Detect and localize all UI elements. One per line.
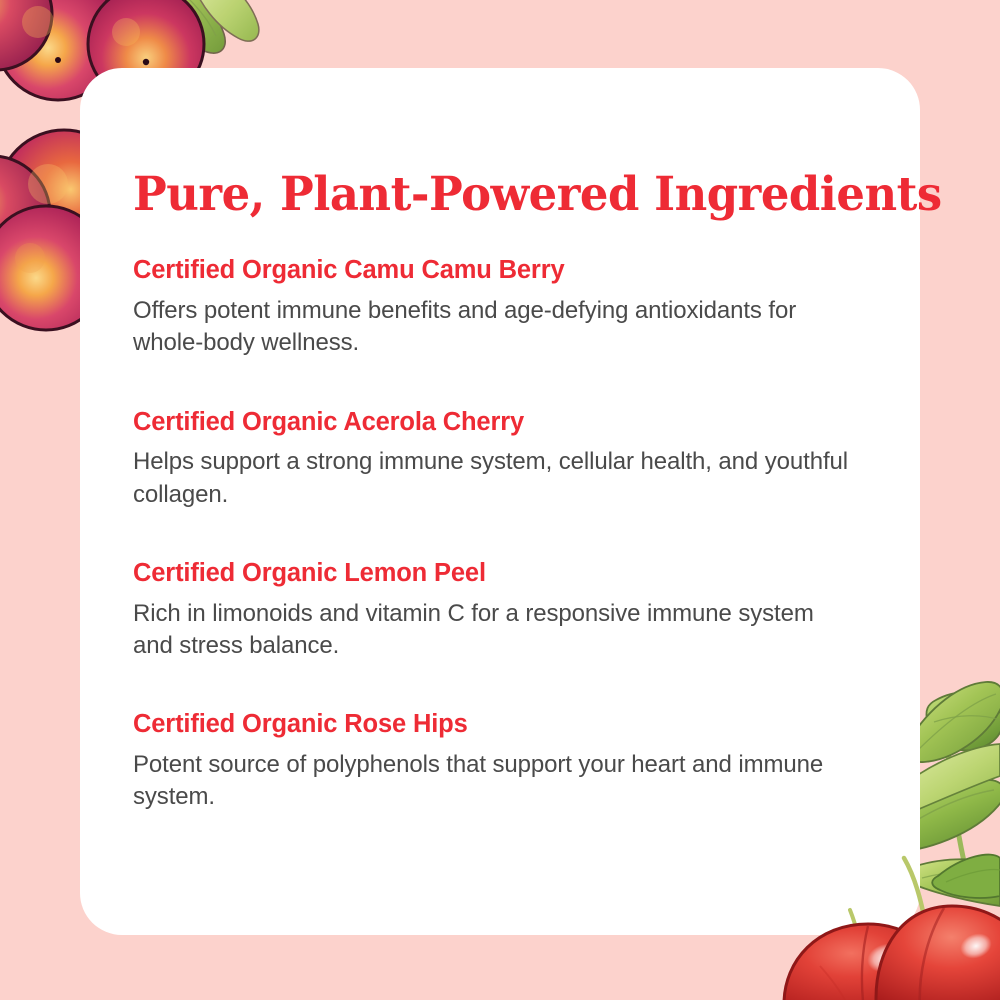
ingredient-name: Certified Organic Rose Hips — [133, 709, 873, 740]
list-item: Certified Organic Acerola Cherry Helps s… — [133, 407, 873, 511]
ingredient-description: Offers potent immune benefits and age-de… — [133, 295, 853, 360]
list-item: Certified Organic Lemon Peel Rich in lim… — [133, 558, 873, 662]
ingredient-name: Certified Organic Acerola Cherry — [133, 407, 873, 438]
list-item: Certified Organic Rose Hips Potent sourc… — [133, 709, 873, 813]
ingredient-description: Potent source of polyphenols that suppor… — [133, 749, 853, 814]
ingredient-list: Certified Organic Camu Camu Berry Offers… — [133, 255, 873, 814]
card-content: Pure, Plant-Powered Ingredients Certifie… — [133, 68, 873, 814]
ingredient-description: Helps support a strong immune system, ce… — [133, 446, 853, 511]
ingredient-description: Rich in limonoids and vitamin C for a re… — [133, 598, 853, 663]
ingredient-name: Certified Organic Camu Camu Berry — [133, 255, 873, 286]
ingredient-name: Certified Organic Lemon Peel — [133, 558, 873, 589]
green-leaf-icon — [114, 0, 259, 53]
page-title: Pure, Plant-Powered Ingredients — [133, 68, 840, 219]
poster-canvas: Pure, Plant-Powered Ingredients Certifie… — [0, 0, 1000, 1000]
list-item: Certified Organic Camu Camu Berry Offers… — [133, 255, 873, 359]
